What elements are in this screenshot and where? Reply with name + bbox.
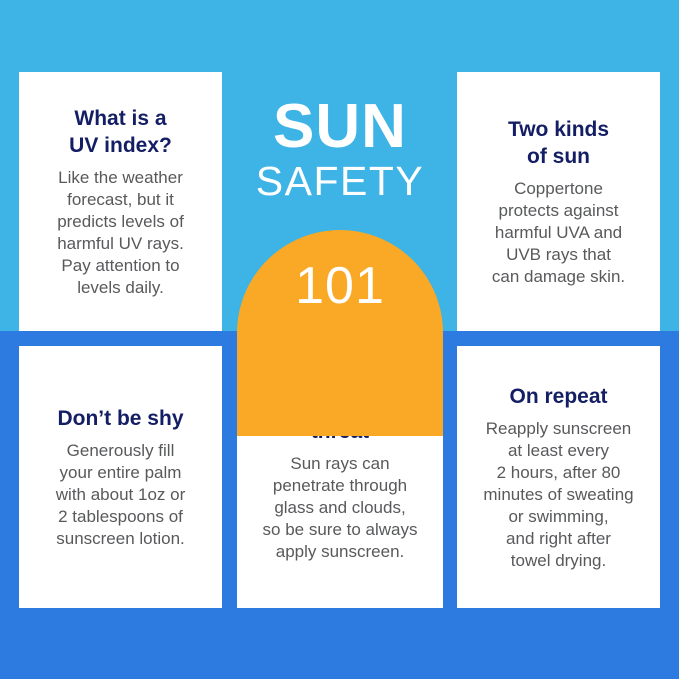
hero-title-sun: SUN — [237, 96, 443, 158]
card-two-kinds-of-sun-title: Two kinds of sun — [508, 116, 609, 170]
card-uv-index: What is a UV index? Like the weather for… — [19, 72, 222, 331]
card-uv-index-title: What is a UV index? — [69, 105, 172, 159]
card-on-repeat-title: On repeat — [509, 383, 607, 410]
card-on-repeat: On repeat Reapply sunscreen at least eve… — [457, 346, 660, 608]
card-two-kinds-of-sun-body: Coppertone protects against harmful UVA … — [492, 178, 625, 288]
sun-safety-infographic: SUN SAFETY 101 What is a UV index? Like … — [0, 0, 679, 679]
half-sun-icon: 101 — [237, 230, 443, 436]
card-two-kinds-of-sun: Two kinds of sun Coppertone protects aga… — [457, 72, 660, 331]
card-on-repeat-body: Reapply sunscreen at least every 2 hours… — [483, 418, 633, 572]
card-dont-be-shy-title: Don’t be shy — [57, 405, 183, 432]
card-invisible-threat-body: Sun rays can penetrate through glass and… — [263, 453, 418, 563]
card-uv-index-body: Like the weather forecast, but it predic… — [57, 167, 184, 299]
hero-badge-101: 101 — [237, 260, 443, 312]
hero-title-safety: SAFETY — [237, 158, 443, 204]
card-dont-be-shy-body: Generously fill your entire palm with ab… — [56, 440, 185, 550]
hero-title-block: SUN SAFETY 101 — [237, 72, 443, 331]
card-dont-be-shy: Don’t be shy Generously fill your entire… — [19, 346, 222, 608]
